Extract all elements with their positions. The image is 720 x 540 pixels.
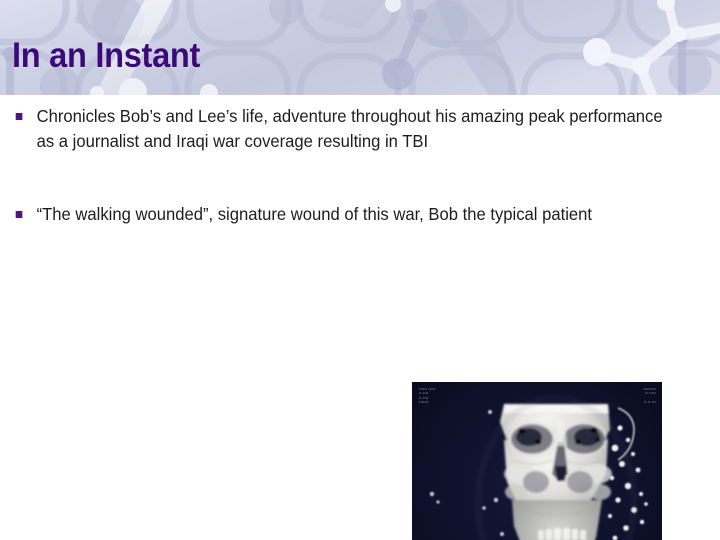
list-item: Chronicles Bob’s and Lee’s life, adventu… [10, 104, 666, 154]
presentation-slide: In an Instant Chronicles Bob’s and Lee’s… [0, 0, 720, 540]
square-bullet-icon [16, 211, 23, 218]
list-item: “The walking wounded”, signature wound o… [10, 202, 666, 227]
square-bullet-icon [16, 113, 23, 120]
list-item-label: Chronicles Bob’s and Lee’s life, adventu… [37, 104, 666, 154]
bullet-list: Chronicles Bob’s and Lee’s life, adventu… [10, 104, 700, 227]
page-title: In an Instant [12, 38, 200, 73]
slide-body: Chronicles Bob’s and Lee’s life, adventu… [0, 95, 720, 540]
ct-skull-image: •••••• ••••• •• •••• •• •••• ••••••• •••… [412, 382, 662, 540]
ct-skull-render [412, 382, 662, 540]
slide-header-banner: In an Instant [0, 0, 720, 95]
list-item-label: “The walking wounded”, signature wound o… [37, 202, 666, 227]
